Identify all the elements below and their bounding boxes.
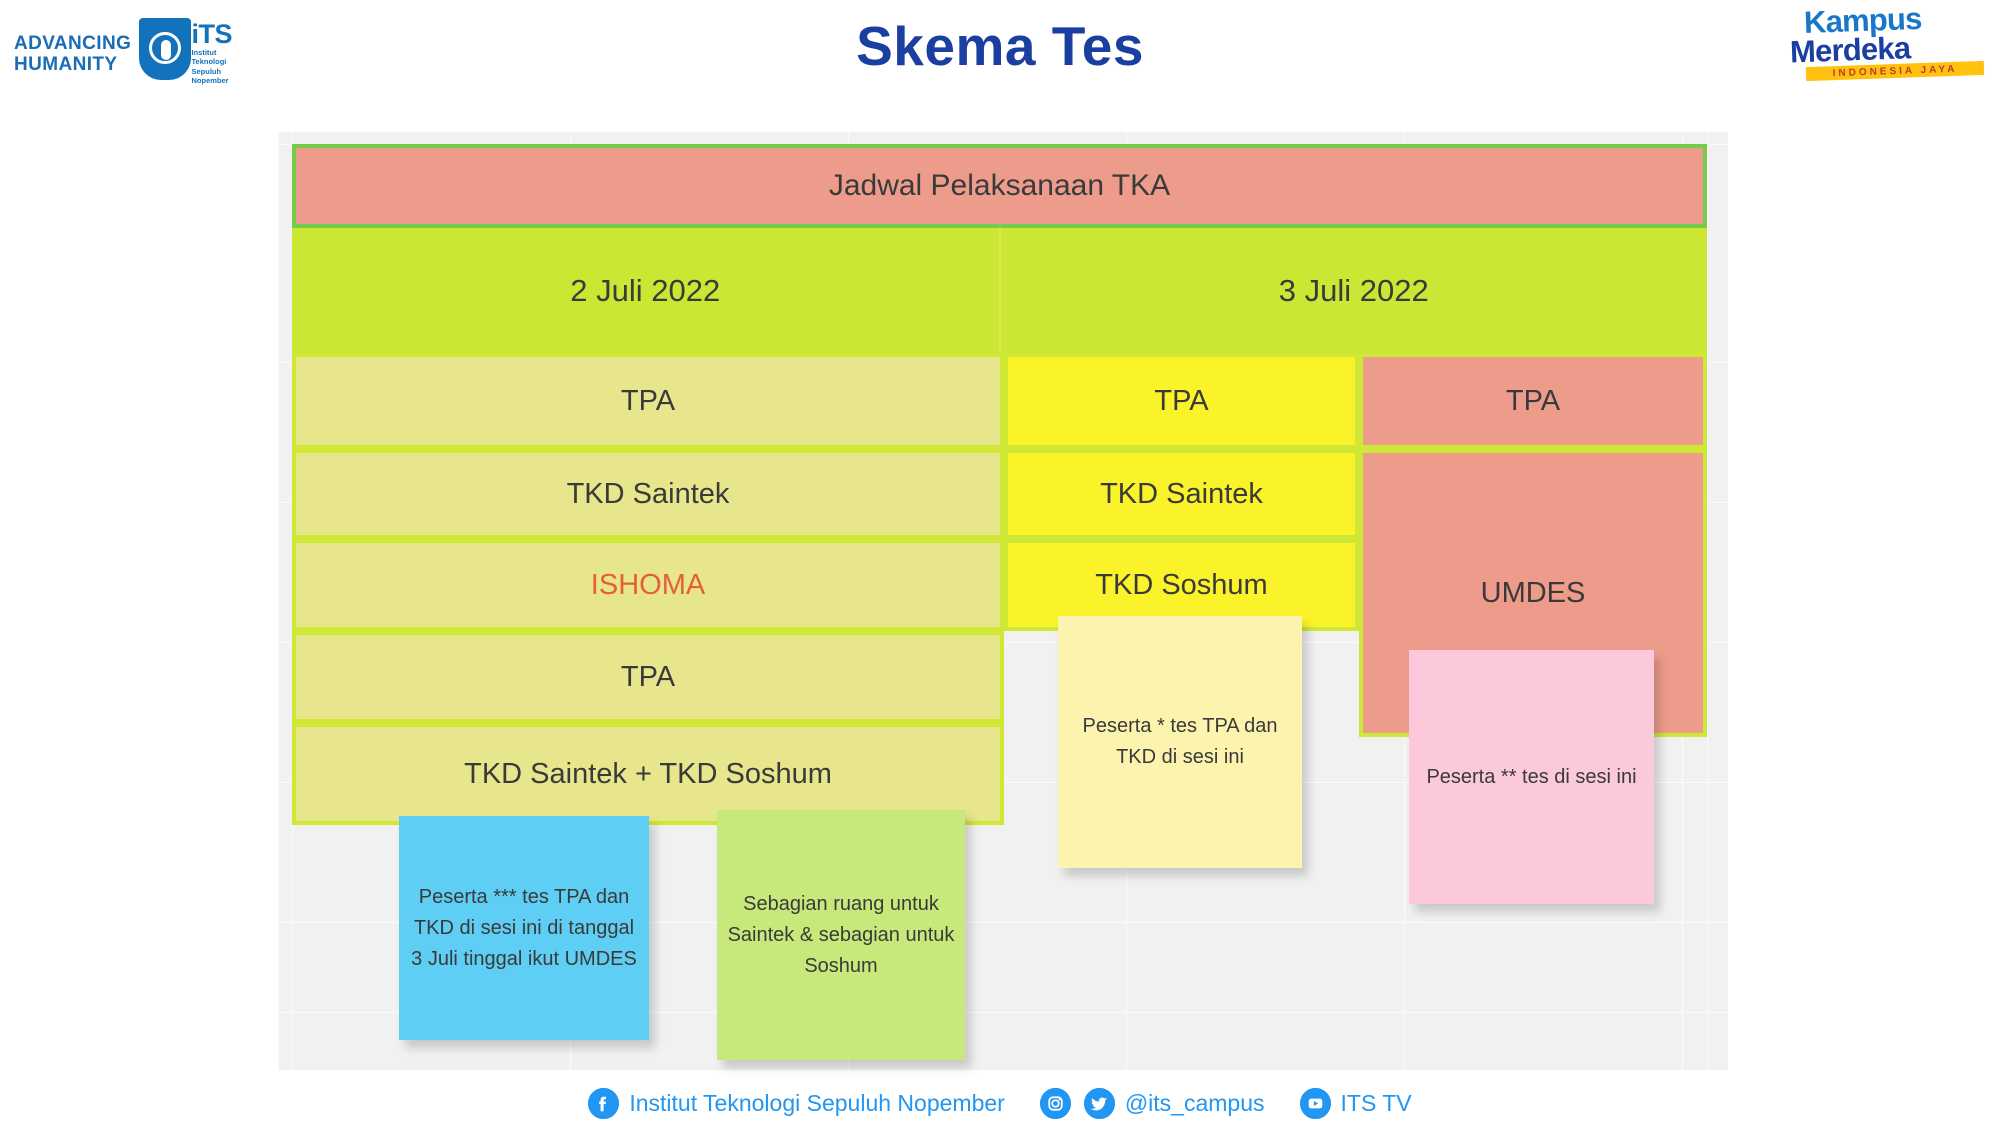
date-header-row: 2 Juli 2022 3 Juli 2022 [292, 228, 1707, 353]
page-title: Skema Tes [0, 14, 2000, 78]
footer-item-twitter[interactable]: @its_campus [1084, 1088, 1265, 1119]
column-2-juli: TPA TKD Saintek ISHOMA TPA TKD Saintek +… [292, 353, 1004, 825]
footer-item-facebook[interactable]: Institut Teknologi Sepuluh Nopember [588, 1088, 1004, 1119]
kampus-merdeka-logo: Kampus Merdeka INDONESIA JAYA [1790, 6, 1990, 96]
footer-label-youtube: ITS TV [1341, 1090, 1412, 1117]
date-cell-2: 3 Juli 2022 [999, 228, 1708, 353]
sticky-note-green: Sebagian ruang untuk Saintek & sebagian … [717, 810, 965, 1060]
footer-label-facebook: Institut Teknologi Sepuluh Nopember [629, 1090, 1004, 1117]
cell-c1-r2: TKD Saintek [292, 449, 1004, 539]
instagram-icon[interactable] [1040, 1088, 1071, 1119]
cell-c1-r1: TPA [292, 353, 1004, 449]
cell-c2-r1: TPA [1004, 353, 1359, 449]
youtube-icon[interactable] [1300, 1088, 1331, 1119]
cell-c1-r4: TPA [292, 631, 1004, 723]
cell-c2-r2: TKD Saintek [1004, 449, 1359, 539]
slide-header: ADVANCING HUMANITY iTS Institut Teknolog… [0, 0, 2000, 108]
date-cell-1: 2 Juli 2022 [292, 228, 999, 353]
cell-c3-r1: TPA [1359, 353, 1707, 449]
twitter-icon[interactable] [1084, 1088, 1115, 1119]
column-3-juli-a: TPA TKD Saintek TKD Soshum [1004, 353, 1359, 631]
footer-label-twitter: @its_campus [1125, 1090, 1265, 1117]
facebook-icon[interactable] [588, 1088, 619, 1119]
cell-c1-r3-ishoma: ISHOMA [292, 539, 1004, 631]
slide-footer: Institut Teknologi Sepuluh Nopember @its… [0, 1082, 2000, 1125]
sticky-note-blue: Peserta *** tes TPA dan TKD di sesi ini … [399, 816, 649, 1040]
sticky-note-pink: Peserta ** tes di sesi ini [1409, 650, 1654, 904]
sticky-note-yellow: Peserta * tes TPA dan TKD di sesi ini [1058, 616, 1302, 868]
table-title-cell: Jadwal Pelaksanaan TKA [292, 144, 1707, 228]
footer-item-youtube[interactable]: ITS TV [1300, 1088, 1412, 1119]
footer-item-instagram[interactable] [1040, 1088, 1071, 1119]
